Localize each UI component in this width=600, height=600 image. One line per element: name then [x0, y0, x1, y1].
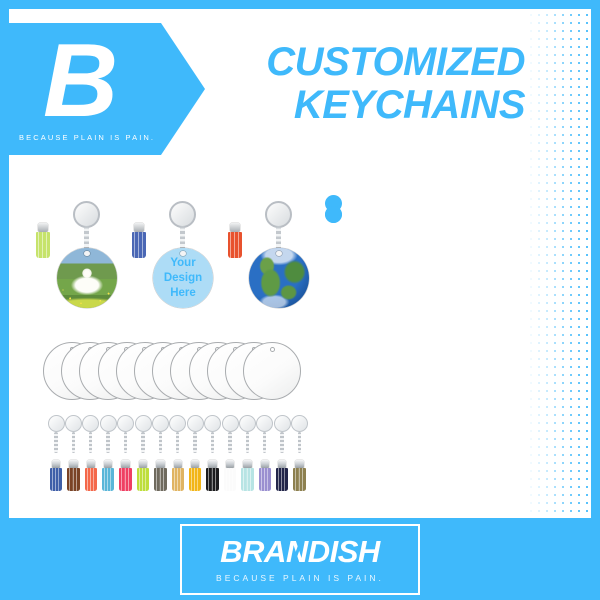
footer-brand-bar: BRANDISH BECAUSE PLAIN IS PAIN.	[0, 518, 600, 600]
tassel-skirt	[132, 232, 146, 258]
split-ring	[265, 201, 292, 228]
tassel	[292, 460, 307, 491]
tassel	[223, 460, 238, 491]
split-ring	[239, 415, 256, 432]
tassel-cap	[121, 460, 130, 468]
earth-photo-keychain	[223, 201, 309, 313]
tassel	[131, 223, 147, 258]
key-ring	[117, 415, 135, 453]
design-placeholder-keychain: YourDesignHere	[127, 201, 213, 313]
key-ring	[47, 415, 65, 453]
chain-link	[180, 226, 185, 250]
key-ring	[273, 415, 291, 453]
chain-link	[211, 432, 214, 453]
tassel-skirt	[67, 468, 80, 491]
key-ring	[256, 415, 274, 453]
product-showcase-row: YourDesignHere	[31, 201, 309, 313]
split-ring	[274, 415, 291, 432]
chain-link	[84, 226, 89, 250]
chain-link	[141, 432, 144, 453]
tassel	[35, 223, 51, 258]
tassel-skirt	[102, 468, 115, 491]
disc-artwork: YourDesignHere	[153, 248, 213, 308]
tassel-skirt	[85, 468, 98, 491]
split-ring	[169, 201, 196, 228]
split-ring	[291, 415, 308, 432]
tassel-cap	[226, 460, 235, 468]
feature-list	[325, 187, 540, 201]
chain-link	[89, 432, 92, 453]
tassel-skirt	[241, 468, 254, 491]
tassel-skirt	[172, 468, 185, 491]
chain-link	[72, 432, 75, 453]
tassel	[101, 460, 116, 491]
tassel	[227, 223, 243, 258]
key-ring	[291, 415, 309, 453]
tassel-skirt	[189, 468, 202, 491]
chain-link	[263, 432, 266, 453]
split-ring	[152, 415, 169, 432]
tassel-cap	[191, 460, 200, 468]
tassel-cap	[295, 460, 304, 468]
split-ring	[117, 415, 134, 432]
tassel-cap	[230, 223, 240, 232]
split-ring	[135, 415, 152, 432]
page-title-line1: CUSTOMIZED	[266, 40, 525, 84]
tassel	[170, 460, 185, 491]
tassel	[118, 460, 133, 491]
split-ring	[204, 415, 221, 432]
page-title-line2: KEYCHAINS	[215, 84, 525, 127]
tassel-skirt	[36, 232, 50, 258]
key-ring	[151, 415, 169, 453]
footer-brand-tagline: BECAUSE PLAIN IS PAIN.	[216, 573, 384, 583]
tassel-skirt	[259, 468, 272, 491]
split-ring	[65, 415, 82, 432]
tassel	[153, 460, 168, 491]
page-title: CUSTOMIZED KEYCHAINS	[215, 41, 525, 127]
tassel-cap	[69, 460, 78, 468]
split-ring	[256, 415, 273, 432]
logo-tagline: BECAUSE PLAIN IS PAIN.	[19, 133, 155, 142]
blank-disc	[243, 342, 301, 400]
chain-link	[106, 432, 109, 453]
split-ring	[222, 415, 239, 432]
tassel-cap	[104, 460, 113, 468]
frame-top-edge	[0, 0, 600, 9]
tassel	[49, 460, 64, 491]
dot-grid-pattern	[525, 9, 591, 518]
poster-root: B BECAUSE PLAIN IS PAIN. CUSTOMIZED KEYC…	[0, 0, 600, 600]
tassel-skirt	[206, 468, 219, 491]
tassel-cap	[134, 223, 144, 232]
split-ring	[169, 415, 186, 432]
chain-link	[276, 226, 281, 250]
tassel	[83, 460, 98, 491]
split-ring	[73, 201, 100, 228]
dog-photo-keychain	[31, 201, 117, 313]
key-ring	[64, 415, 82, 453]
chain-link	[280, 432, 283, 453]
tassel-skirt	[154, 468, 167, 491]
tassel	[240, 460, 255, 491]
blank-disc-fan	[43, 342, 309, 404]
key-ring	[169, 415, 187, 453]
keychain-disc: YourDesignHere	[153, 248, 213, 308]
key-ring	[204, 415, 222, 453]
tassel-cap	[243, 460, 252, 468]
tassel-skirt	[119, 468, 132, 491]
logo-pennant: B BECAUSE PLAIN IS PAIN.	[9, 23, 205, 155]
frame-right-edge	[591, 0, 600, 600]
tassel-cap	[38, 223, 48, 232]
key-ring	[99, 415, 117, 453]
tassel	[66, 460, 81, 491]
keyring-tassel-row	[47, 415, 309, 491]
chain-link	[124, 432, 127, 453]
tassel-cap	[139, 460, 148, 468]
key-ring	[82, 415, 100, 453]
tassel-cap	[261, 460, 270, 468]
tassel-cap	[87, 460, 96, 468]
tassel	[188, 460, 203, 491]
tassel-cap	[174, 460, 183, 468]
split-ring	[82, 415, 99, 432]
tassel-skirt	[224, 468, 237, 491]
key-ring	[221, 415, 239, 453]
frame-left-edge	[0, 0, 9, 600]
tassel-cap	[208, 460, 217, 468]
split-ring	[48, 415, 65, 432]
tassel	[257, 460, 272, 491]
tassel-skirt	[228, 232, 242, 258]
tassel-cap	[156, 460, 165, 468]
chain-link	[176, 432, 179, 453]
chain-link	[193, 432, 196, 453]
chain-link	[228, 432, 231, 453]
tassel-skirt	[50, 468, 63, 491]
disc-label: YourDesignHere	[164, 256, 202, 301]
footer-logo-box: BRANDISH BECAUSE PLAIN IS PAIN.	[180, 524, 420, 595]
split-ring	[100, 415, 117, 432]
tassel	[275, 460, 290, 491]
disc-artwork	[57, 248, 117, 308]
tassel-skirt	[137, 468, 150, 491]
disc-artwork	[249, 248, 309, 308]
logo-monogram: B	[43, 29, 116, 133]
chain-link	[159, 432, 162, 453]
chain-link	[298, 432, 301, 453]
chain-link	[246, 432, 249, 453]
footer-brand-name: BRANDISH	[220, 535, 380, 568]
poster-canvas: B BECAUSE PLAIN IS PAIN. CUSTOMIZED KEYC…	[9, 9, 591, 518]
key-ring	[238, 415, 256, 453]
split-ring	[187, 415, 204, 432]
chain-link	[54, 432, 57, 453]
key-ring	[134, 415, 152, 453]
keychain-disc	[57, 248, 117, 308]
tassel-skirt	[293, 468, 306, 491]
key-ring	[186, 415, 204, 453]
bullet-dot-icon	[325, 206, 342, 223]
keychain-disc	[249, 248, 309, 308]
tassel	[205, 460, 220, 491]
tassel-skirt	[276, 468, 289, 491]
tassel-cap	[278, 460, 287, 468]
tassel	[136, 460, 151, 491]
tassel-cap	[52, 460, 61, 468]
